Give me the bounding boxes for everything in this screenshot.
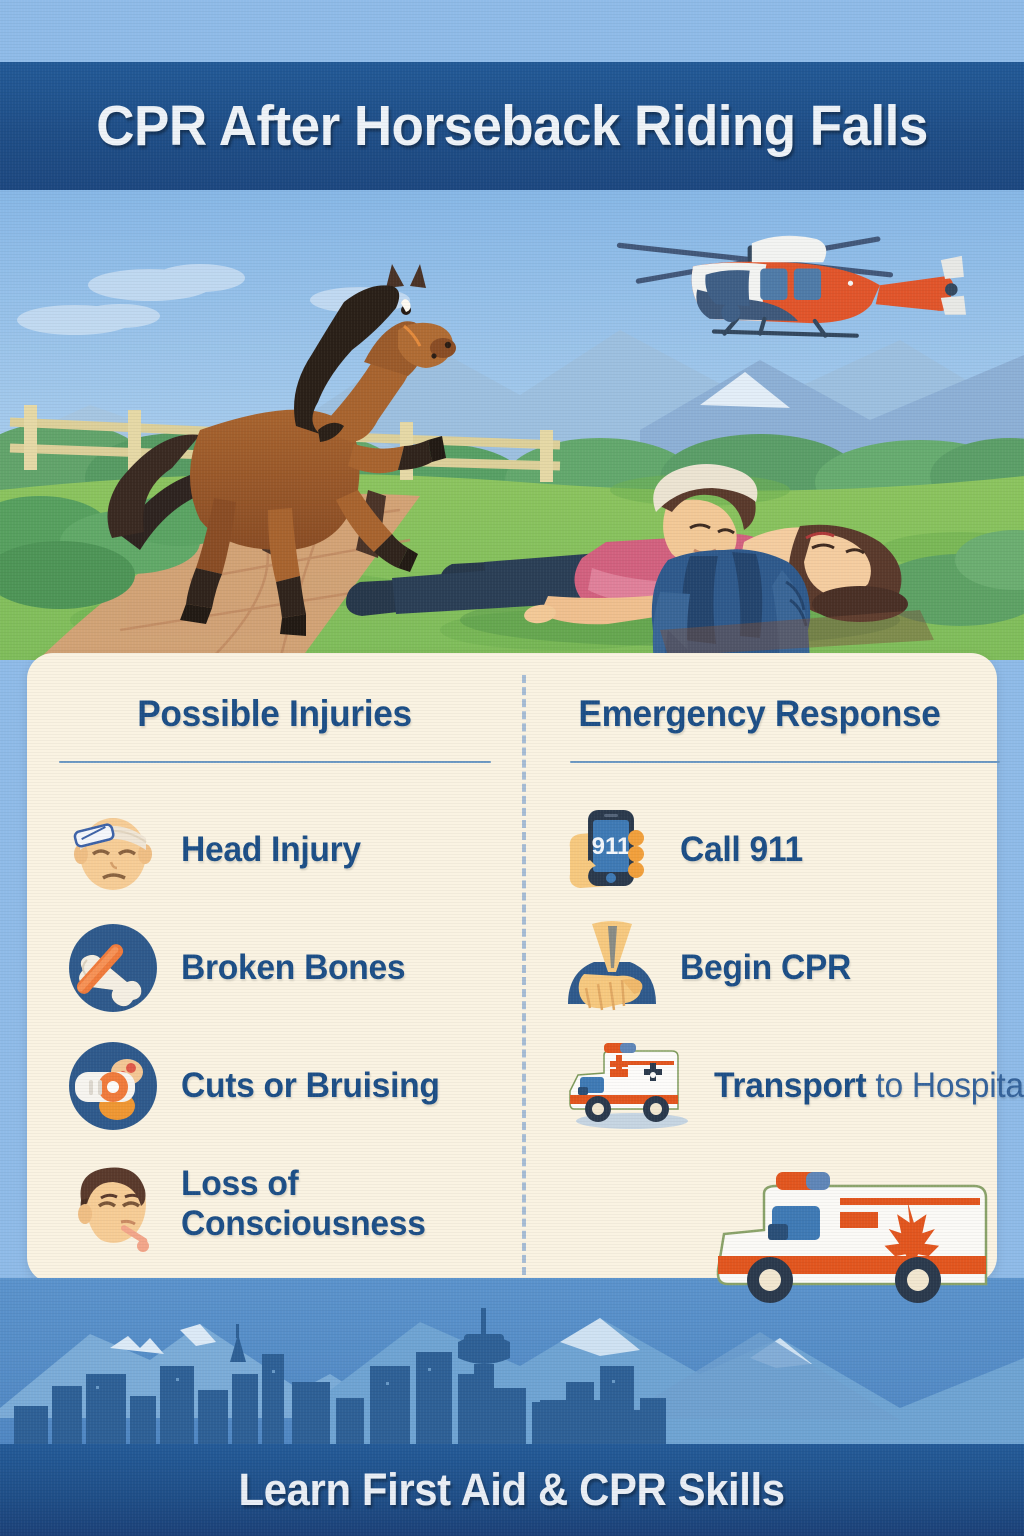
- hero-illustration: [0, 190, 1024, 660]
- footer-banner: Learn First Aid & CPR Skills: [0, 1444, 1024, 1536]
- header-banner: CPR After Horseback Riding Falls: [0, 62, 1024, 190]
- infographic-poster: CPR After Horseback Riding Falls: [0, 0, 1024, 1536]
- transport-bold-text: Transport: [714, 1066, 866, 1105]
- list-item-label: Call 911: [680, 830, 803, 870]
- broken-bone-icon: [65, 920, 161, 1016]
- list-item-label: Head Injury: [181, 830, 361, 870]
- emergency-response-list: 911 Call 911: [522, 791, 997, 1145]
- footer-title: Learn First Aid & CPR Skills: [239, 1464, 785, 1516]
- list-item-label: Cuts or Bruising: [181, 1066, 440, 1106]
- canadian-ambulance: [706, 1168, 1006, 1308]
- cpr-hands-icon: [564, 920, 660, 1016]
- list-item-label: Loss of Consciousness: [181, 1164, 498, 1244]
- list-item-transport-to-hospital[interactable]: Transport to Hospital: [522, 1027, 997, 1145]
- heading-rule-left: [59, 761, 491, 763]
- list-item-head-injury[interactable]: Head Injury: [27, 791, 522, 909]
- list-item-cuts-bruising[interactable]: Cuts or Bruising: [27, 1027, 522, 1145]
- page-title: CPR After Horseback Riding Falls: [96, 93, 927, 159]
- list-item-broken-bones[interactable]: Broken Bones: [27, 909, 522, 1027]
- unconscious-face-icon: [65, 1156, 161, 1252]
- heading-rule-right: [570, 761, 1000, 763]
- svg-text:911: 911: [592, 833, 631, 860]
- possible-injuries-list: Head Injury: [27, 791, 522, 1263]
- ambulance-icon: [564, 1041, 694, 1131]
- transport-light-text: to Hospital: [866, 1066, 1024, 1105]
- list-item-label: Broken Bones: [181, 948, 405, 988]
- list-item-label: Begin CPR: [680, 948, 851, 988]
- list-item-loss-of-consciousness[interactable]: Loss of Consciousness: [27, 1145, 522, 1263]
- emergency-response-heading: Emergency Response: [534, 653, 985, 735]
- phone-911-icon: 911: [564, 802, 660, 898]
- list-item-label: Transport to Hospital: [714, 1066, 1024, 1106]
- bandage-wound-icon: [65, 1038, 161, 1134]
- head-bandage-icon: [65, 802, 161, 898]
- possible-injuries-heading: Possible Injuries: [39, 653, 509, 735]
- list-item-call-911[interactable]: 911 Call 911: [522, 791, 997, 909]
- list-item-begin-cpr[interactable]: Begin CPR: [522, 909, 997, 1027]
- possible-injuries-column: Possible Injuries: [27, 653, 522, 1283]
